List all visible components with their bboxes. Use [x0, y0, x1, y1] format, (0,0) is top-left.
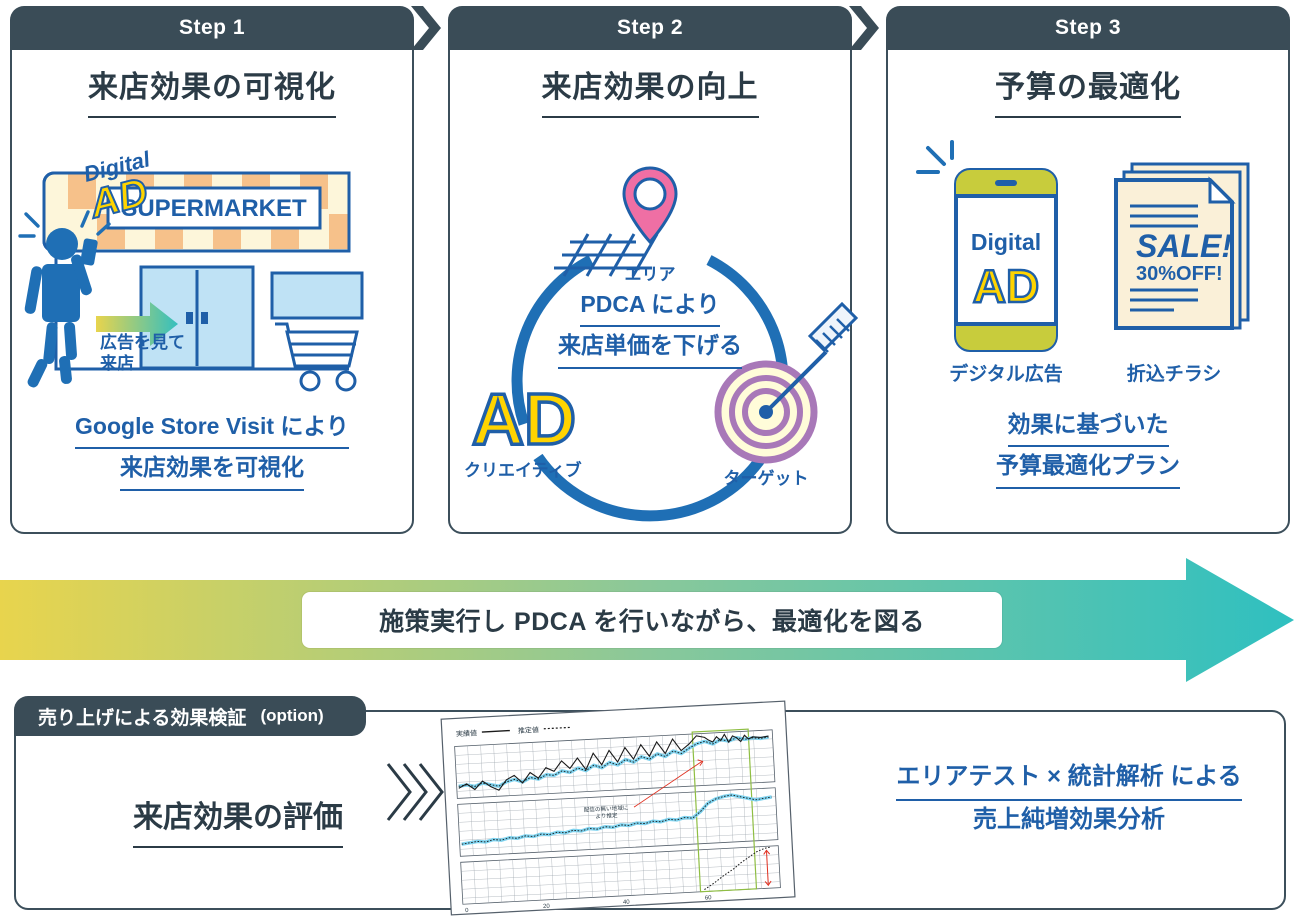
chart-xtick-20: 20 [543, 904, 551, 910]
step-card-3[interactable]: Step 3 予算の最適化 Digital AD [886, 6, 1294, 540]
step-cards: Step 1 来店効果の可視化 [0, 6, 1300, 546]
diagram-stage: Step 1 来店効果の可視化 [0, 0, 1300, 922]
option-caption-line1: エリアテスト × 統計解析 による [896, 758, 1241, 801]
step-card-1-header: Step 1 [10, 6, 414, 50]
area-node-label: エリア [625, 265, 676, 284]
flyer-sub: 30%OFF! [1136, 263, 1223, 285]
step-3-illustration: Digital AD デジタル広告 [886, 142, 1290, 392]
flyer-headline: SALE! [1136, 228, 1232, 264]
phone-sparkle-icon [918, 142, 952, 172]
step-2-caption-line2: 来店単価を下げる [558, 327, 742, 368]
flyer-caption: 折込チラシ [1127, 363, 1222, 385]
chart-xtick-60: 60 [705, 895, 713, 901]
option-panel-header: 売り上げによる効果検証 (option) [14, 696, 366, 736]
smartphone-icon: Digital AD [956, 170, 1056, 350]
person-note-line1: 広告を見て [100, 332, 185, 352]
person-note-line2: 来店 [99, 353, 134, 373]
person-icon [24, 228, 98, 389]
phone-ad-label: AD [973, 260, 1039, 312]
chart-xtick-40: 40 [623, 899, 631, 905]
step-3-header-label: Step 3 [1055, 16, 1121, 40]
area-node: エリア [554, 168, 676, 284]
chevron-right-icon-2 [849, 6, 883, 50]
effect-chart-thumbnail[interactable]: 実績値 推定値 [438, 704, 798, 910]
step-1-title: 来店効果の可視化 [10, 62, 414, 118]
step-card-1[interactable]: Step 1 来店効果の可視化 [10, 6, 418, 540]
option-header-tag: (option) [260, 706, 323, 726]
flyer-icon: SALE! 30%OFF! [1116, 164, 1248, 328]
step-card-2-header: Step 2 [448, 6, 852, 50]
option-caption: エリアテスト × 統計解析 による 売上純増効果分析 [854, 758, 1284, 840]
step-card-2[interactable]: Step 2 来店効果の向上 [448, 6, 856, 540]
band-label: 施策実行し PDCA を行いながら、最適化を図る [302, 592, 1002, 648]
triple-chevron-icon [384, 754, 444, 830]
phone-caption: デジタル広告 [949, 362, 1063, 385]
step-2-title: 来店効果の向上 [448, 62, 852, 118]
target-node-label: ターゲット [724, 468, 809, 488]
option-panel[interactable]: 売り上げによる効果検証 (option) 来店効果の評価 実績値 推定値 [14, 696, 1286, 910]
step-1-caption-line1: Google Store Visit により [75, 408, 349, 449]
step-1-header-label: Step 1 [179, 16, 245, 40]
option-header-label: 売り上げによる効果検証 [38, 703, 246, 730]
phone-digital-label: Digital [971, 229, 1041, 255]
progress-arrow-band: 施策実行し PDCA を行いながら、最適化を図る [0, 556, 1300, 684]
step-3-title: 予算の最適化 [886, 62, 1290, 118]
step-2-header-label: Step 2 [617, 16, 683, 40]
option-caption-line2: 売上純増効果分析 [973, 806, 1165, 833]
step-card-3-header: Step 3 [886, 6, 1290, 50]
creative-node-label: クリエイティブ [464, 460, 582, 480]
step-1-caption-line2: 来店効果を可視化 [120, 449, 304, 490]
step-1-illustration: SUPERMARKET [10, 136, 414, 406]
creative-node: AD クリエイティブ [464, 380, 582, 480]
creative-node-mark: AD [472, 380, 576, 460]
chevron-right-icon [411, 6, 445, 50]
step-1-caption: Google Store Visit により 来店効果を可視化 [10, 408, 414, 491]
step-3-caption-line2: 予算最適化プラン [996, 447, 1180, 488]
step-2-caption: PDCA により 来店単価を下げる [448, 286, 852, 369]
option-title: 来店効果の評価 [38, 792, 438, 848]
step-3-caption: 効果に基づいた 予算最適化プラン [886, 406, 1290, 489]
step-3-caption-line1: 効果に基づいた [1008, 406, 1169, 447]
step-2-caption-line1: PDCA により [580, 286, 719, 327]
